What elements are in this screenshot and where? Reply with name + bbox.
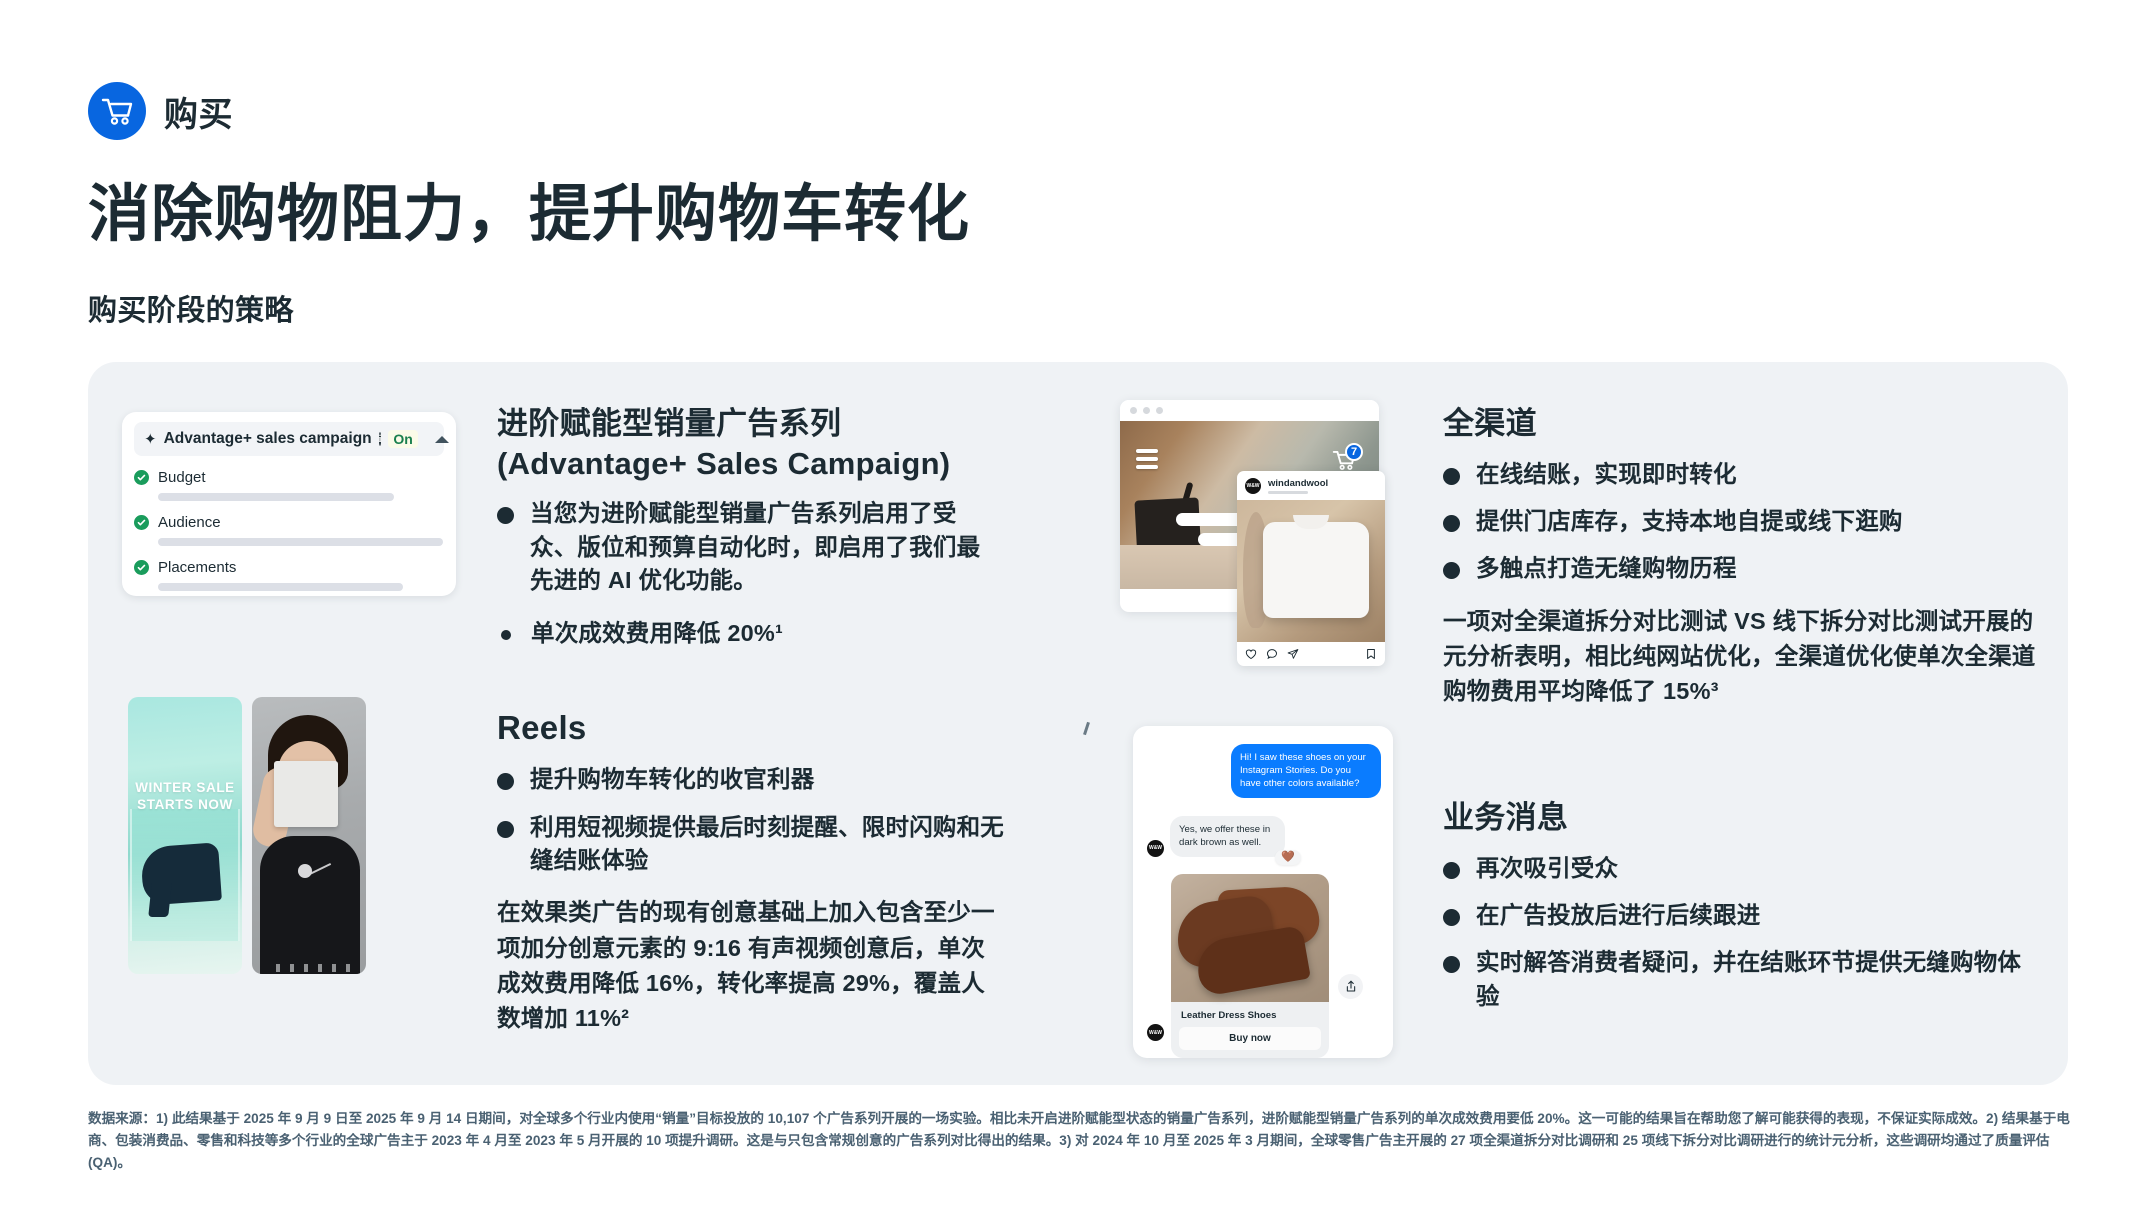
bullet-dot-icon [497,821,514,838]
advantage-card-title: Advantage+ sales campaign [164,430,372,448]
reels-creative-winter-sale: WINTER SALE STARTS NOW [128,697,242,974]
bullet-text: 提供门店库存，支持本地自提或线下逛购 [1476,505,1903,538]
advantage-campaign-card[interactable]: ✦ Advantage+ sales campaign i On Budget … [122,412,456,596]
held-card-shape [274,761,338,827]
bullet-item: 提升购物车转化的收官利器 [497,763,1007,796]
advantage-row-placements: Placements [134,559,444,591]
page-subtitle: 购买阶段的策略 [88,287,294,329]
avatar: W&W [1245,478,1261,494]
info-icon[interactable]: i [379,432,382,446]
reels-image-group: WINTER SALE STARTS NOW [128,697,366,974]
bullet-item: 再次吸引受众 [1443,852,2043,885]
reaction-emoji[interactable]: 🤎 [1275,850,1301,865]
hem-shape [266,964,352,972]
bullet-text: 提升购物车转化的收官利器 [530,763,814,796]
placeholder-bar [158,493,394,501]
placeholder-bar [158,538,443,546]
cart-count-badge: 7 [1345,443,1363,461]
bullet-text: 在广告投放后进行后续跟进 [1476,899,1760,932]
section-paragraph: 一项对全渠道拆分对比测试 VS 线下拆分对比测试开展的元分析表明，相比纯网站优化… [1443,604,2043,710]
bullet-dot-icon [497,773,514,790]
page-title: 消除购物阻力，提升购物车转化 [88,180,970,249]
share-icon[interactable] [1338,974,1363,999]
section-advantage-campaign: 进阶赋能型销量广告系列 (Advantage+ Sales Campaign) … [497,404,997,651]
bullet-text: 单次成效费用降低 20%¹ [531,617,783,650]
placeholder-line [1268,491,1308,494]
product-photo [1171,874,1329,1002]
bullet-item: 在线结账，实现即时转化 [1443,458,2043,491]
window-dot-green [1156,407,1163,414]
business-messaging-mock: Hi! I saw these shoes on your Instagram … [1133,726,1393,1058]
bullet-item: 提供门店库存，支持本地自提或线下逛购 [1443,505,2043,538]
necklace-pendant [298,864,312,878]
bullet-text: 实时解答消费者疑问，并在结账环节提供无缝购物体验 [1476,946,2043,1013]
bullet-text: 多触点打造无缝购物历程 [1476,552,1737,585]
bullet-text: 再次吸引受众 [1476,852,1618,885]
section-title: Reels [497,707,1007,749]
bullet-dot-icon [497,507,514,524]
section-title: 全渠道 [1443,404,2043,444]
shoe-heel-shape [148,883,172,917]
bullet-dot-icon [1443,862,1460,879]
section-omnichannel: 全渠道 在线结账，实现即时转化 提供门店库存，支持本地自提或线下逛购 多触点打造… [1443,404,2043,710]
shopping-cart-icon [88,82,146,140]
section-reels: Reels 提升购物车转化的收官利器 利用短视频提供最后时刻提醒、限时闪购和无缝… [497,707,1007,1036]
placeholder-bar [158,583,403,591]
bullet-item: 在广告投放后进行后续跟进 [1443,899,2043,932]
message-row-incoming: W&W Yes, we offer these in dark brown as… [1147,816,1285,857]
instagram-photo [1237,500,1385,642]
bookmark-icon[interactable] [1365,648,1377,660]
bullet-item: 实时解答消费者疑问，并在结账环节提供无缝购物体验 [1443,946,2043,1013]
chevron-up-icon[interactable] [435,436,449,443]
bullet-item: 单次成效费用降低 20%¹ [497,617,997,650]
bullet-dot-icon [1443,909,1460,926]
white-tshirt-shape [1263,522,1369,618]
advantage-row-audience: Audience [134,514,444,546]
bullet-item: 利用短视频提供最后时刻提醒、限时闪购和无缝结账体验 [497,811,1007,878]
section-paragraph: 在效果类广告的现有创意基础上加入包含至少一项加分创意元素的 9:16 有声视频创… [497,895,1007,1036]
section-title: 进阶赋能型销量广告系列 (Advantage+ Sales Campaign) [497,404,997,483]
sparkle-icon: ✦ [144,432,157,447]
avatar: W&W [1147,1024,1164,1041]
check-circle-icon [134,560,149,575]
section-title: 业务消息 [1443,798,2043,838]
advantage-row-label: Audience [158,514,221,531]
product-name: Leather Dress Shoes [1171,1002,1329,1027]
bullet-text: 利用短视频提供最后时刻提醒、限时闪购和无缝结账体验 [530,811,1007,878]
bullet-item: 当您为进阶赋能型销量广告系列启用了受众、版位和预算自动化时，即启用了我们最先进的… [497,497,997,597]
black-top-shape [260,836,360,974]
instagram-actions [1237,642,1385,666]
instagram-post-header: W&W windandwool [1237,471,1385,500]
avatar: W&W [1147,840,1164,857]
bullet-dot-icon [1443,468,1460,485]
product-card[interactable]: Leather Dress Shoes Buy now [1171,874,1329,1058]
check-circle-icon [134,515,149,530]
bullet-dot-icon [1443,562,1460,579]
advantage-row-label: Placements [158,559,236,576]
message-bubble-incoming: Yes, we offer these in dark brown as wel… [1170,816,1285,857]
hamburger-menu-icon[interactable] [1136,449,1158,473]
footnote-sources: 数据来源：1) 此结果基于 2025 年 9 月 9 日至 2025 年 9 月… [88,1108,2078,1174]
check-circle-icon [134,470,149,485]
stage-label: 购买 [164,87,233,136]
reels-creative-model [252,697,366,974]
message-bubble-outgoing: Hi! I saw these shoes on your Instagram … [1231,744,1381,798]
status-badge: On [388,430,417,448]
section-business-messaging: 业务消息 再次吸引受众 在广告投放后进行后续跟进 实时解答消费者疑问，并在结账环… [1443,798,2043,1013]
advantage-card-header[interactable]: ✦ Advantage+ sales campaign i On [134,422,444,456]
advantage-row-budget: Budget [134,469,444,501]
comment-icon[interactable] [1266,648,1278,660]
instagram-post-card: W&W windandwool [1237,471,1385,666]
share-icon[interactable] [1287,648,1299,660]
instagram-handle: windandwool [1268,478,1328,489]
reels-caption: WINTER SALE STARTS NOW [128,779,242,814]
browser-titlebar [1120,400,1379,421]
bullet-text: 当您为进阶赋能型销量广告系列启用了受众、版位和预算自动化时，即启用了我们最先进的… [530,497,997,597]
heart-icon[interactable] [1245,648,1257,660]
window-dot-yellow [1143,407,1150,414]
bullet-dot-icon [1443,515,1460,532]
stage-eyebrow: 购买 [88,82,233,140]
slide-root: 购买 消除购物阻力，提升购物车转化 购买阶段的策略 ✦ Advantage+ s… [0,0,2152,1214]
advantage-row-label: Budget [158,469,206,486]
bullet-dot-icon [1443,956,1460,973]
buy-now-button[interactable]: Buy now [1179,1027,1321,1050]
bullet-item: 多触点打造无缝购物历程 [1443,552,2043,585]
bullet-dot-icon [501,630,511,640]
bullet-text: 在线结账，实现即时转化 [1476,458,1737,491]
window-dot-red [1130,407,1137,414]
